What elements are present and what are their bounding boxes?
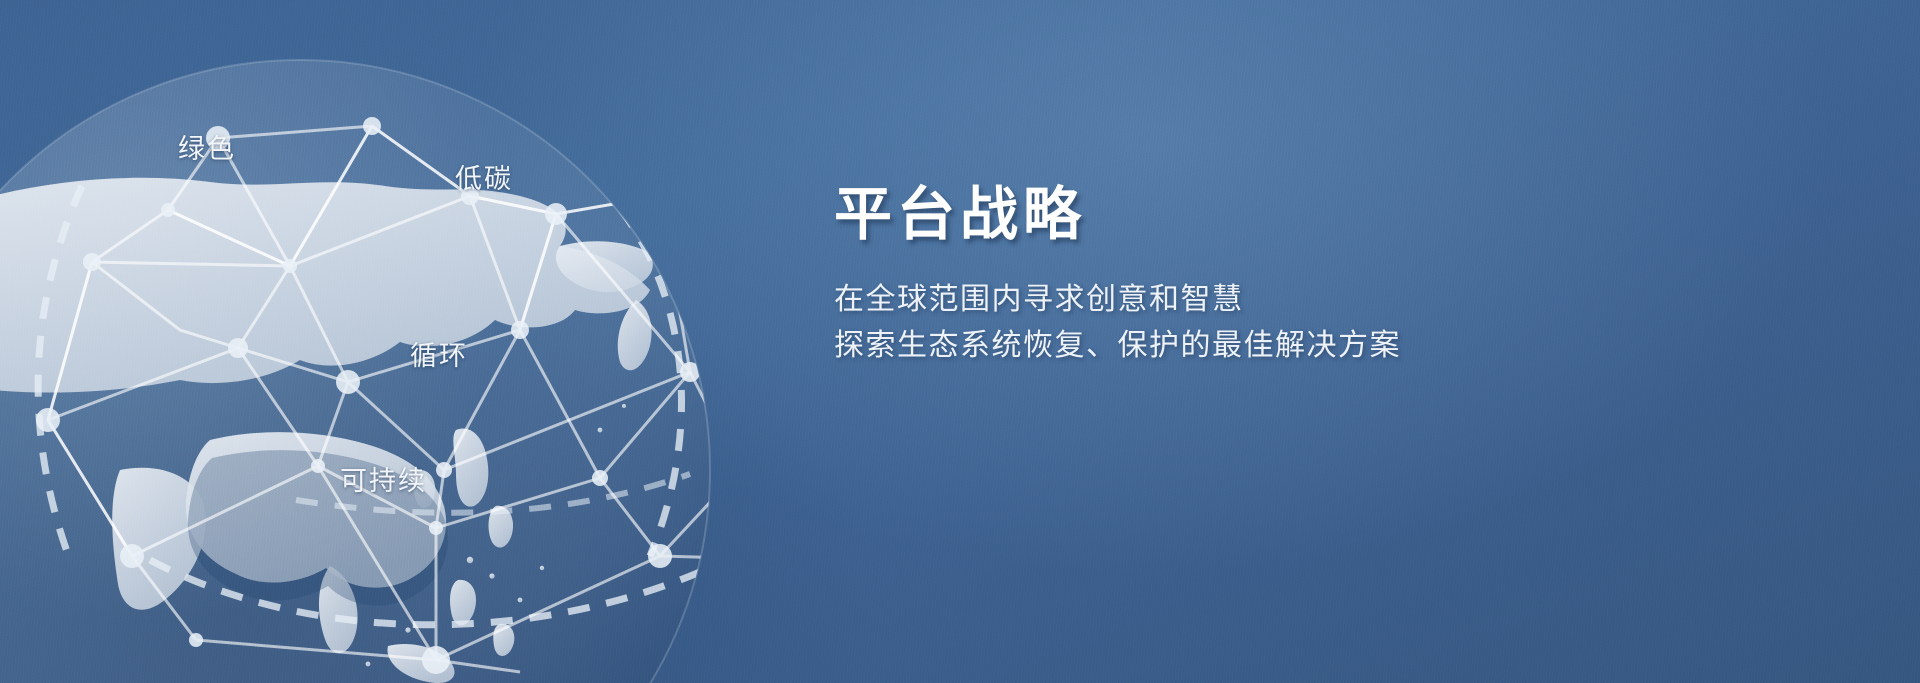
globe-label-green: 绿色 <box>178 127 236 166</box>
globe-label-recycling: 循环 <box>410 334 468 373</box>
globe-label-sustainable: 可持续 <box>340 459 427 498</box>
hero-banner: 绿色 低碳 循环 可持续 平台战略 在全球范围内寻求创意和智慧 探索生态系统恢复… <box>0 0 1920 683</box>
globe-label-low-carbon: 低碳 <box>455 157 513 196</box>
page-title: 平台战略 <box>834 182 1554 247</box>
subtitle-line-1: 在全球范围内寻求创意和智慧 <box>834 277 1554 323</box>
hero-copy-block: 平台战略 在全球范围内寻求创意和智慧 探索生态系统恢复、保护的最佳解决方案 <box>834 182 1554 368</box>
subtitle-line-2: 探索生态系统恢复、保护的最佳解决方案 <box>834 323 1554 369</box>
